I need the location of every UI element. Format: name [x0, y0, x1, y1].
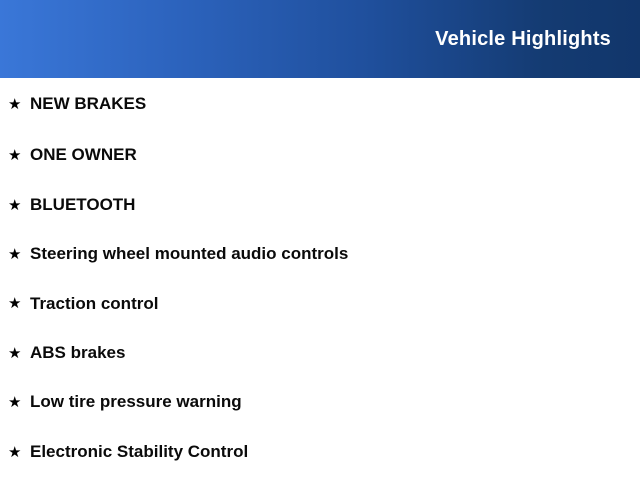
highlight-label: ONE OWNER — [30, 146, 137, 165]
highlight-label: Steering wheel mounted audio controls — [30, 245, 348, 264]
vehicle-highlights-list: ★ NEW BRAKES ★ ONE OWNER ★ BLUETOOTH ★ S… — [0, 78, 640, 480]
list-item: ★ BLUETOOTH — [0, 180, 640, 229]
list-item: ★ Steering wheel mounted audio controls — [0, 230, 640, 279]
star-icon: ★ — [8, 148, 30, 163]
list-item: ★ Traction control — [0, 279, 640, 328]
list-item: ★ Electronic Stability Control — [0, 427, 640, 476]
vehicle-highlights-page: Vehicle Highlights ★ NEW BRAKES ★ ONE OW… — [0, 0, 640, 480]
highlight-label: Electronic Stability Control — [30, 443, 248, 462]
highlight-label: Traction control — [30, 295, 158, 314]
highlight-label: ABS brakes — [30, 344, 125, 363]
star-icon: ★ — [8, 445, 30, 460]
star-icon: ★ — [8, 296, 30, 311]
list-item: ★ ONE OWNER — [0, 131, 640, 180]
page-title: Vehicle Highlights — [435, 29, 611, 49]
star-icon: ★ — [8, 247, 30, 262]
highlight-label: NEW BRAKES — [30, 95, 146, 114]
star-icon: ★ — [8, 395, 30, 410]
list-item: ★ NEW BRAKES — [0, 78, 640, 131]
list-item: ★ Low tire pressure warning — [0, 378, 640, 427]
star-icon: ★ — [8, 97, 30, 112]
list-item: ★ ABS brakes — [0, 329, 640, 378]
highlight-label: BLUETOOTH — [30, 196, 135, 215]
header-bar: Vehicle Highlights — [0, 0, 640, 78]
star-icon: ★ — [8, 346, 30, 361]
star-icon: ★ — [8, 198, 30, 213]
highlight-label: Low tire pressure warning — [30, 393, 242, 412]
